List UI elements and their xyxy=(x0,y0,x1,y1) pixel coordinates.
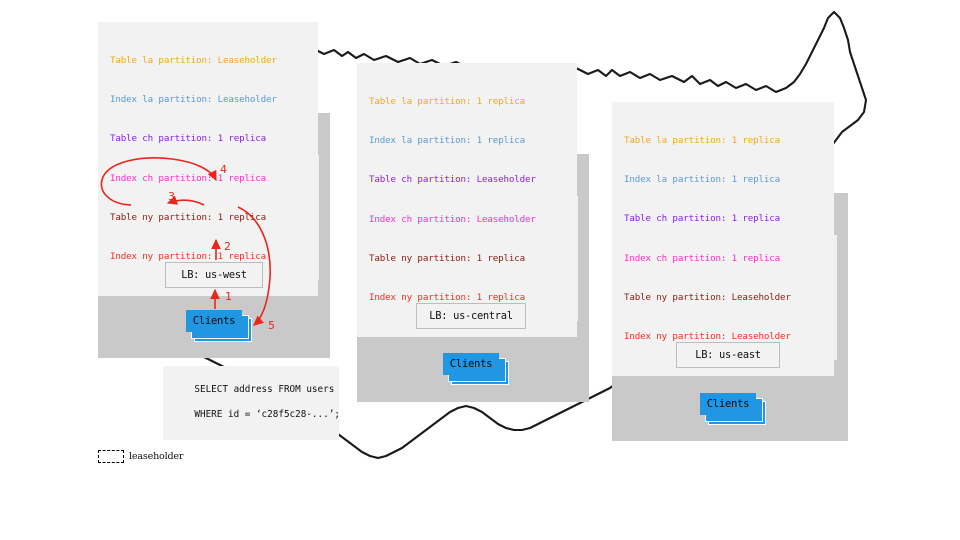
clients-us-east[interactable]: Clients xyxy=(700,393,764,423)
partition-line: Table ch partition: 1 replica xyxy=(624,212,824,225)
step-label-3: 3 xyxy=(168,190,175,203)
partition-line: Table ny partition: 1 replica xyxy=(110,211,308,224)
partition-line: Table ch partition: Leaseholder xyxy=(369,173,567,186)
leaseholder-key-label: leaseholder xyxy=(129,451,183,462)
partition-line: Index ny partition: Leaseholder xyxy=(624,330,824,343)
clients-us-central[interactable]: Clients xyxy=(443,353,507,383)
partition-legend-us-east: Table la partition: 1 replica Index la p… xyxy=(612,102,834,376)
diagram-canvas: Table la partition: Leaseholder Index la… xyxy=(0,0,960,540)
clients-front[interactable]: Clients xyxy=(700,393,756,415)
partition-line: Index ny partition: 1 replica xyxy=(369,291,567,304)
partition-line: Table la partition: 1 replica xyxy=(369,95,567,108)
load-balancer-us-west[interactable]: LB: us-west xyxy=(165,262,263,288)
load-balancer-us-east[interactable]: LB: us-east xyxy=(676,342,780,368)
step-label-2: 2 xyxy=(224,240,231,253)
partition-line: Index ch partition: 1 replica xyxy=(110,172,308,185)
clients-us-west[interactable]: Clients xyxy=(186,310,250,340)
step-label-5: 5 xyxy=(268,319,275,332)
partition-legend-us-west: Table la partition: Leaseholder Index la… xyxy=(98,22,318,296)
partition-line: Index la partition: 1 replica xyxy=(624,173,824,186)
sql-line-2: WHERE id = ‘c28f5c28-...’; xyxy=(194,409,340,420)
partition-line: Table ch partition: 1 replica xyxy=(110,132,308,145)
partition-line: Index la partition: Leaseholder xyxy=(110,93,308,106)
partition-line: Index ch partition: 1 replica xyxy=(624,252,824,265)
partition-line: Index ch partition: Leaseholder xyxy=(369,213,567,226)
partition-line: Index la partition: 1 replica xyxy=(369,134,567,147)
partition-line: Table ny partition: Leaseholder xyxy=(624,291,824,304)
partition-line: Table la partition: 1 replica xyxy=(624,134,824,147)
step-label-1: 1 xyxy=(225,290,232,303)
clients-front[interactable]: Clients xyxy=(443,353,499,375)
sql-query-note: SELECT address FROM users WHERE id = ‘c2… xyxy=(163,366,339,440)
partition-legend-us-central: Table la partition: 1 replica Index la p… xyxy=(357,63,577,337)
partition-line: Index ny partition: 1 replica xyxy=(110,250,308,263)
step-label-4: 4 xyxy=(220,163,227,176)
leaseholder-key: leaseholder xyxy=(98,450,183,463)
leaseholder-swatch-icon xyxy=(98,450,124,463)
sql-line-1: SELECT address FROM users xyxy=(194,384,334,395)
partition-line: Table ny partition: 1 replica xyxy=(369,252,567,265)
partition-line: Table la partition: Leaseholder xyxy=(110,54,308,67)
clients-front[interactable]: Clients xyxy=(186,310,242,332)
load-balancer-us-central[interactable]: LB: us-central xyxy=(416,303,526,329)
